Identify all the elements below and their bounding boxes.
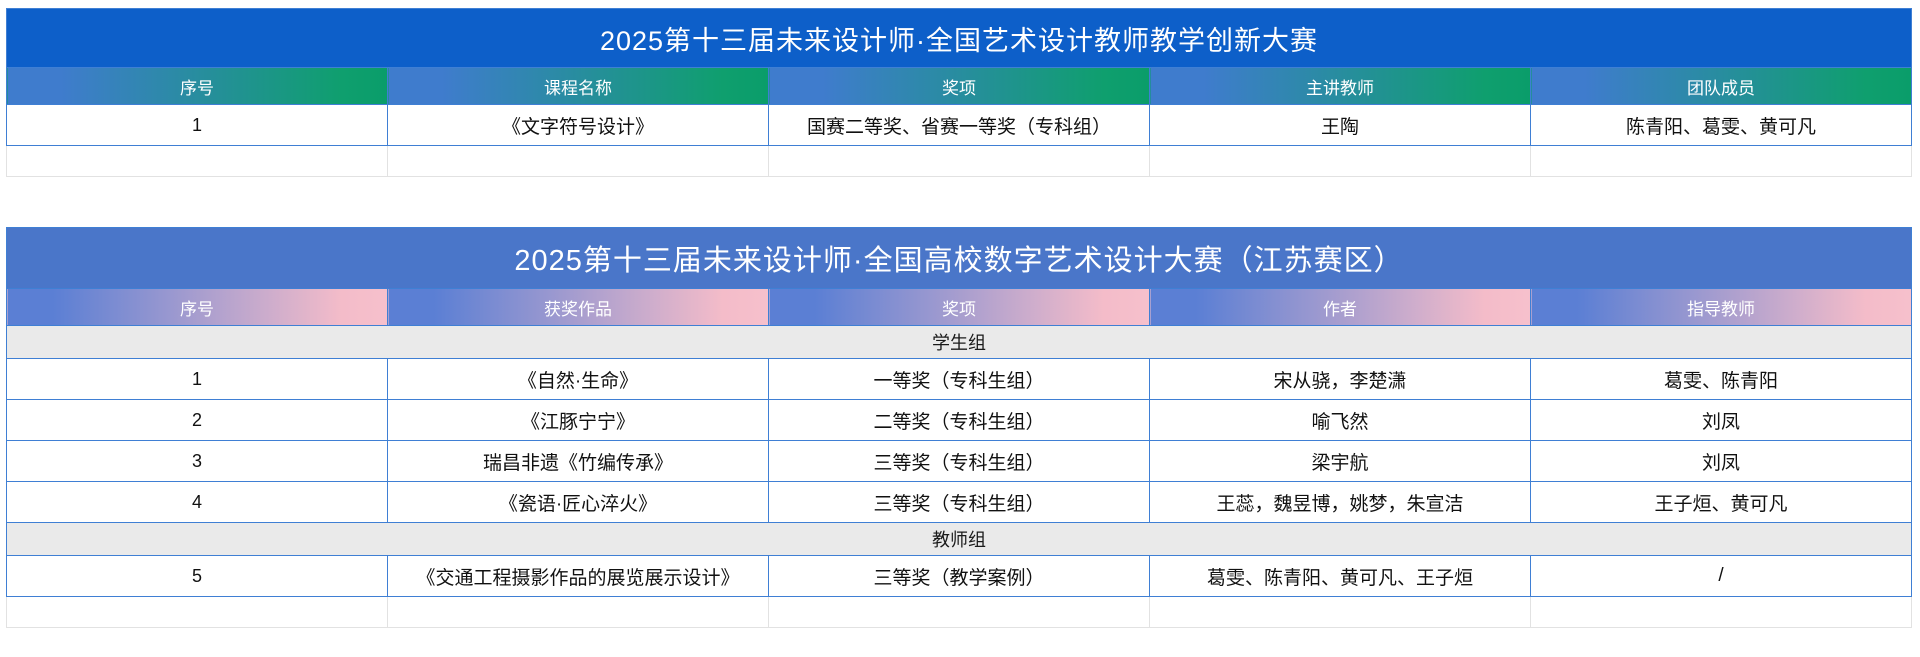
cell-index[interactable]: 5 (7, 556, 388, 597)
table-two-title: 2025第十三届未来设计师·全国高校数字艺术设计大赛（江苏赛区） (7, 228, 1912, 289)
column-header-advisor[interactable]: 指导教师 (1531, 289, 1912, 326)
table-one-title-row: 2025第十三届未来设计师·全国艺术设计教师教学创新大赛 (7, 9, 1912, 68)
spacer-cell (388, 146, 769, 177)
column-header-team[interactable]: 团队成员 (1531, 68, 1912, 105)
cell-award[interactable]: 三等奖（专科生组） (769, 441, 1150, 482)
cell-work[interactable]: 《自然·生命》 (388, 359, 769, 400)
spacer-cell (7, 597, 388, 628)
spreadsheet-canvas: 2025第十三届未来设计师·全国艺术设计教师教学创新大赛 序号 课程名称 奖项 … (0, 0, 1920, 657)
column-header-course[interactable]: 课程名称 (388, 68, 769, 105)
table-row[interactable]: 1 《自然·生命》 一等奖（专科生组） 宋从骁，李楚潇 葛雯、陈青阳 (7, 359, 1912, 400)
digital-art-award-table: 2025第十三届未来设计师·全国高校数字艺术设计大赛（江苏赛区） 序号 获奖作品… (6, 227, 1912, 628)
group-separator-student: 学生组 (7, 326, 1912, 359)
cell-advisor[interactable]: 刘凤 (1531, 400, 1912, 441)
spacer-cell (1150, 597, 1531, 628)
spacer-cell (1531, 146, 1912, 177)
spacer-cell (1150, 146, 1531, 177)
cell-team[interactable]: 陈青阳、葛雯、黄可凡 (1531, 105, 1912, 146)
cell-advisor[interactable]: 王子烜、黄可凡 (1531, 482, 1912, 523)
column-header-author[interactable]: 作者 (1150, 289, 1531, 326)
cell-award[interactable]: 二等奖（专科生组） (769, 400, 1150, 441)
cell-work[interactable]: 《江豚宁宁》 (388, 400, 769, 441)
teaching-innovation-award-table: 2025第十三届未来设计师·全国艺术设计教师教学创新大赛 序号 课程名称 奖项 … (6, 8, 1912, 177)
cell-lecturer[interactable]: 王陶 (1150, 105, 1531, 146)
group-separator-teacher: 教师组 (7, 523, 1912, 556)
cell-advisor[interactable]: 刘凤 (1531, 441, 1912, 482)
table-row[interactable]: 1 《文字符号设计》 国赛二等奖、省赛一等奖（专科组） 王陶 陈青阳、葛雯、黄可… (7, 105, 1912, 146)
table-one-header-row: 序号 课程名称 奖项 主讲教师 团队成员 (7, 68, 1912, 105)
column-header-index[interactable]: 序号 (7, 289, 388, 326)
table-two-header-row: 序号 获奖作品 奖项 作者 指导教师 (7, 289, 1912, 326)
cell-course[interactable]: 《文字符号设计》 (388, 105, 769, 146)
column-header-lecturer[interactable]: 主讲教师 (1150, 68, 1531, 105)
cell-author[interactable]: 宋从骁，李楚潇 (1150, 359, 1531, 400)
cell-award[interactable]: 三等奖（专科生组） (769, 482, 1150, 523)
table-row[interactable]: 4 《瓷语·匠心淬火》 三等奖（专科生组） 王蕊，魏昱博，姚梦，朱宣洁 王子烜、… (7, 482, 1912, 523)
table-row[interactable]: 3 瑞昌非遗《竹编传承》 三等奖（专科生组） 梁宇航 刘凤 (7, 441, 1912, 482)
cell-author[interactable]: 王蕊，魏昱博，姚梦，朱宣洁 (1150, 482, 1531, 523)
cell-index[interactable]: 2 (7, 400, 388, 441)
cell-award[interactable]: 国赛二等奖、省赛一等奖（专科组） (769, 105, 1150, 146)
cell-work[interactable]: 《交通工程摄影作品的展览展示设计》 (388, 556, 769, 597)
spacer-cell (769, 597, 1150, 628)
spacer-cell (769, 146, 1150, 177)
cell-award[interactable]: 一等奖（专科生组） (769, 359, 1150, 400)
spacer-cell (388, 597, 769, 628)
column-header-award[interactable]: 奖项 (769, 68, 1150, 105)
group-label: 学生组 (7, 326, 1912, 359)
table-row[interactable]: 5 《交通工程摄影作品的展览展示设计》 三等奖（教学案例） 葛雯、陈青阳、黄可凡… (7, 556, 1912, 597)
spacer-cell (1531, 597, 1912, 628)
cell-work[interactable]: 《瓷语·匠心淬火》 (388, 482, 769, 523)
cell-advisor[interactable]: 葛雯、陈青阳 (1531, 359, 1912, 400)
cell-index[interactable]: 1 (7, 359, 388, 400)
cell-author[interactable]: 葛雯、陈青阳、黄可凡、王子烜 (1150, 556, 1531, 597)
group-label: 教师组 (7, 523, 1912, 556)
table-two-spacer-row (7, 597, 1912, 628)
cell-index[interactable]: 3 (7, 441, 388, 482)
table-one-spacer-row (7, 146, 1912, 177)
cell-award[interactable]: 三等奖（教学案例） (769, 556, 1150, 597)
cell-work[interactable]: 瑞昌非遗《竹编传承》 (388, 441, 769, 482)
spacer-cell (7, 146, 388, 177)
column-header-index[interactable]: 序号 (7, 68, 388, 105)
column-header-work[interactable]: 获奖作品 (388, 289, 769, 326)
cell-author[interactable]: 喻飞然 (1150, 400, 1531, 441)
cell-index[interactable]: 4 (7, 482, 388, 523)
table-two-title-row: 2025第十三届未来设计师·全国高校数字艺术设计大赛（江苏赛区） (7, 228, 1912, 289)
cell-advisor[interactable]: / (1531, 556, 1912, 597)
cell-author[interactable]: 梁宇航 (1150, 441, 1531, 482)
column-header-award[interactable]: 奖项 (769, 289, 1150, 326)
cell-index[interactable]: 1 (7, 105, 388, 146)
table-one-title: 2025第十三届未来设计师·全国艺术设计教师教学创新大赛 (7, 9, 1912, 68)
table-row[interactable]: 2 《江豚宁宁》 二等奖（专科生组） 喻飞然 刘凤 (7, 400, 1912, 441)
